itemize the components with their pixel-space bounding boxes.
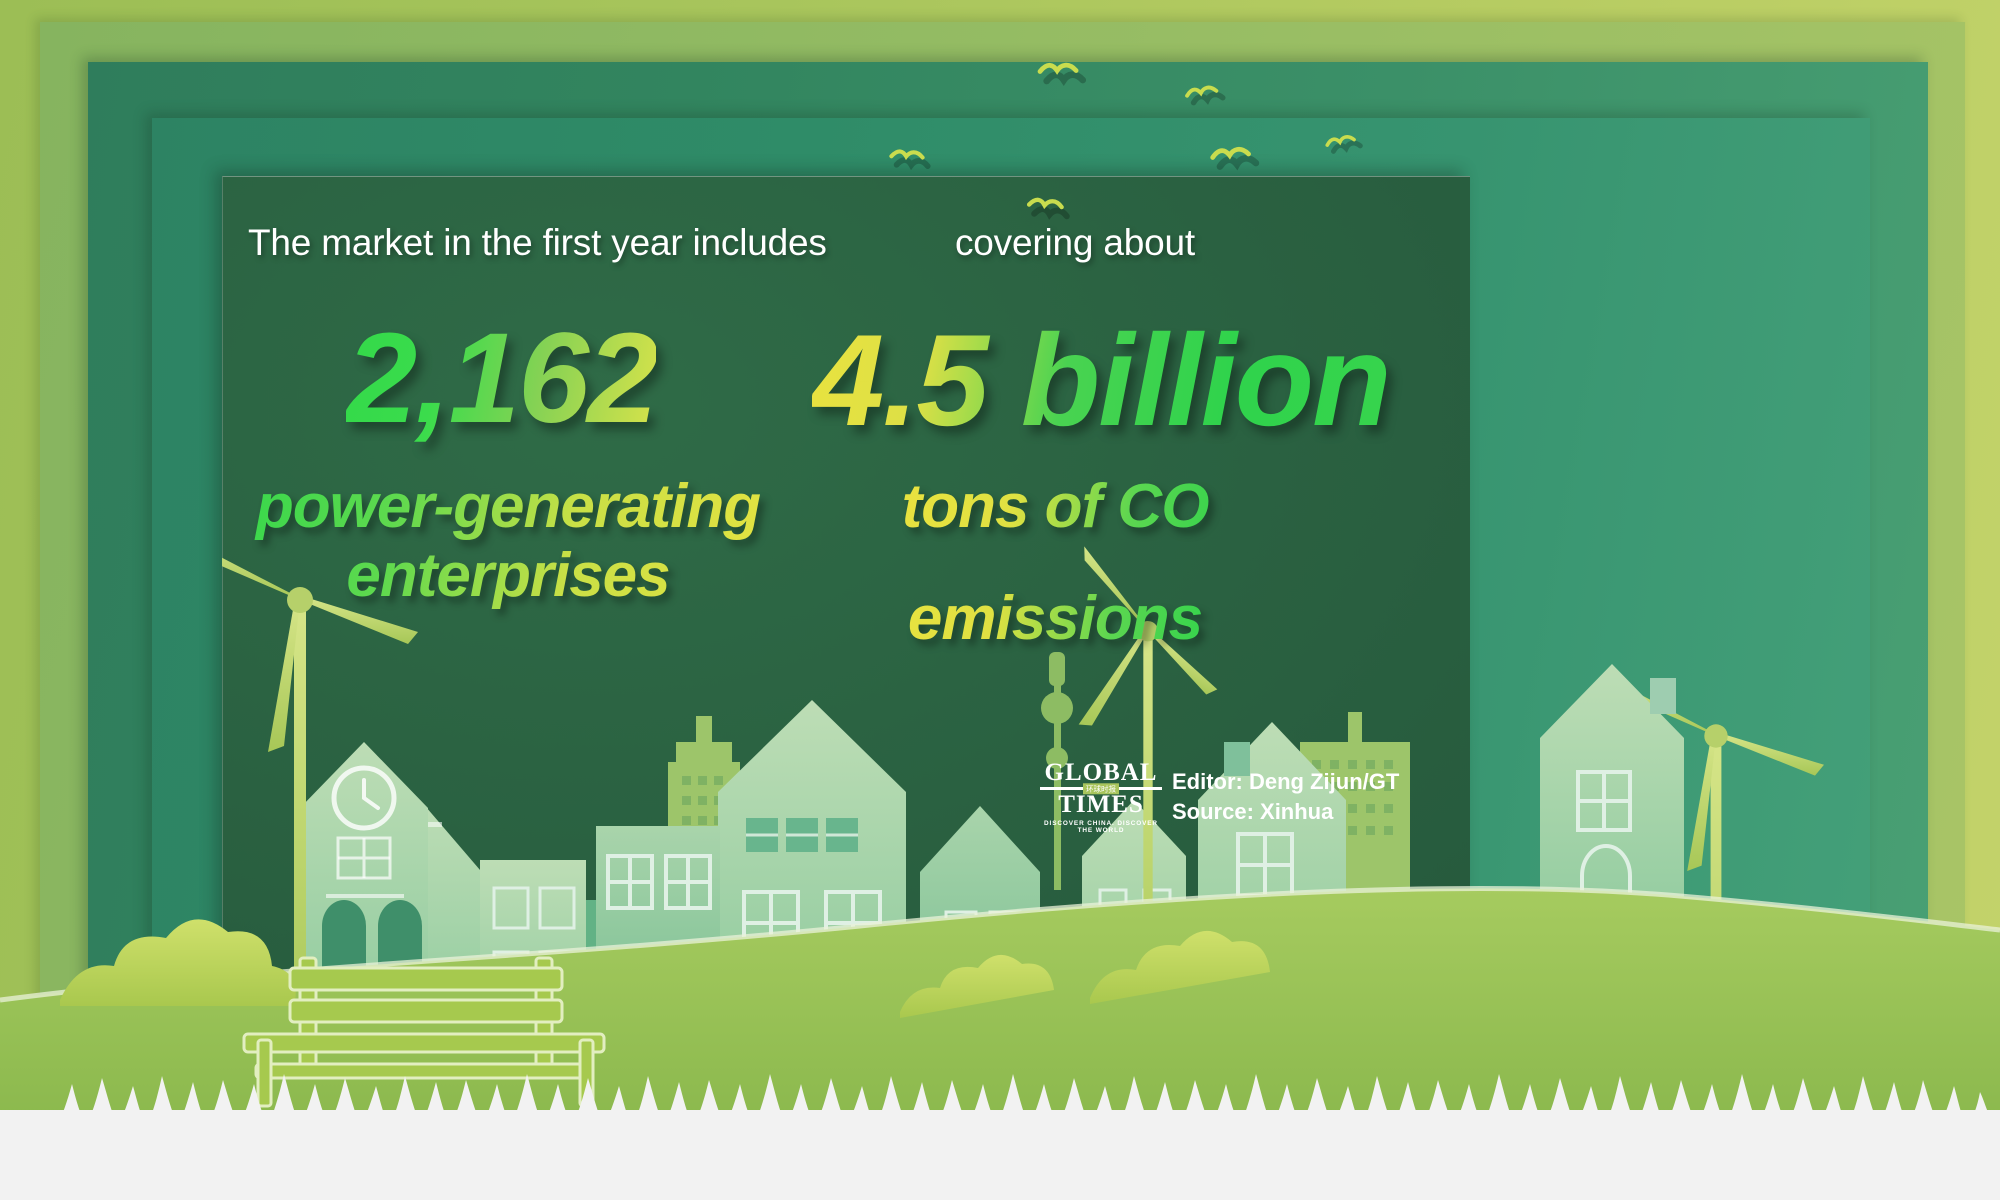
logo-rule: 环球时报	[1040, 787, 1162, 790]
logo-tagline: DISCOVER CHINA. DISCOVER THE WORLD	[1040, 820, 1162, 834]
stat-label-enterprises: power-generating enterprises	[252, 472, 764, 611]
global-times-logo: GLOBAL 环球时报 TIMES DISCOVER CHINA. DISCOV…	[1040, 760, 1162, 834]
stat-label-emissions: tons of CO2 emissions	[900, 472, 1210, 654]
stat-label-line2: emissions	[900, 584, 1210, 653]
stat-label-line1: power-generating	[252, 472, 764, 541]
lede-left: The market in the first year includes	[248, 222, 827, 264]
stat-label-line1: tons of CO2	[900, 472, 1210, 584]
credit-source: Source: Xinhua	[1172, 797, 1399, 827]
infographic-canvas: The market in the first year includes co…	[0, 0, 2000, 1200]
stat-value-enterprises: 2,162	[346, 305, 656, 452]
credits: Editor: Deng Zijun/GT Source: Xinhua	[1172, 767, 1399, 826]
bush-icon	[60, 919, 296, 1006]
logo-word-times: TIMES	[1040, 792, 1162, 817]
logo-word-global: GLOBAL	[1040, 760, 1162, 785]
footer: GLOBAL 环球时报 TIMES DISCOVER CHINA. DISCOV…	[1040, 760, 1399, 834]
stat-value-emissions: 4.5 billion	[812, 305, 1390, 455]
co2-text: tons of CO	[900, 472, 1210, 541]
logo-chinese: 环球时报	[1083, 783, 1119, 794]
credit-editor: Editor: Deng Zijun/GT	[1172, 767, 1399, 797]
grass-silhouette	[0, 1040, 2000, 1200]
lede-right: covering about	[955, 222, 1195, 264]
stat-label-line2: enterprises	[252, 541, 764, 610]
co2-subscript: 2	[900, 548, 1210, 591]
